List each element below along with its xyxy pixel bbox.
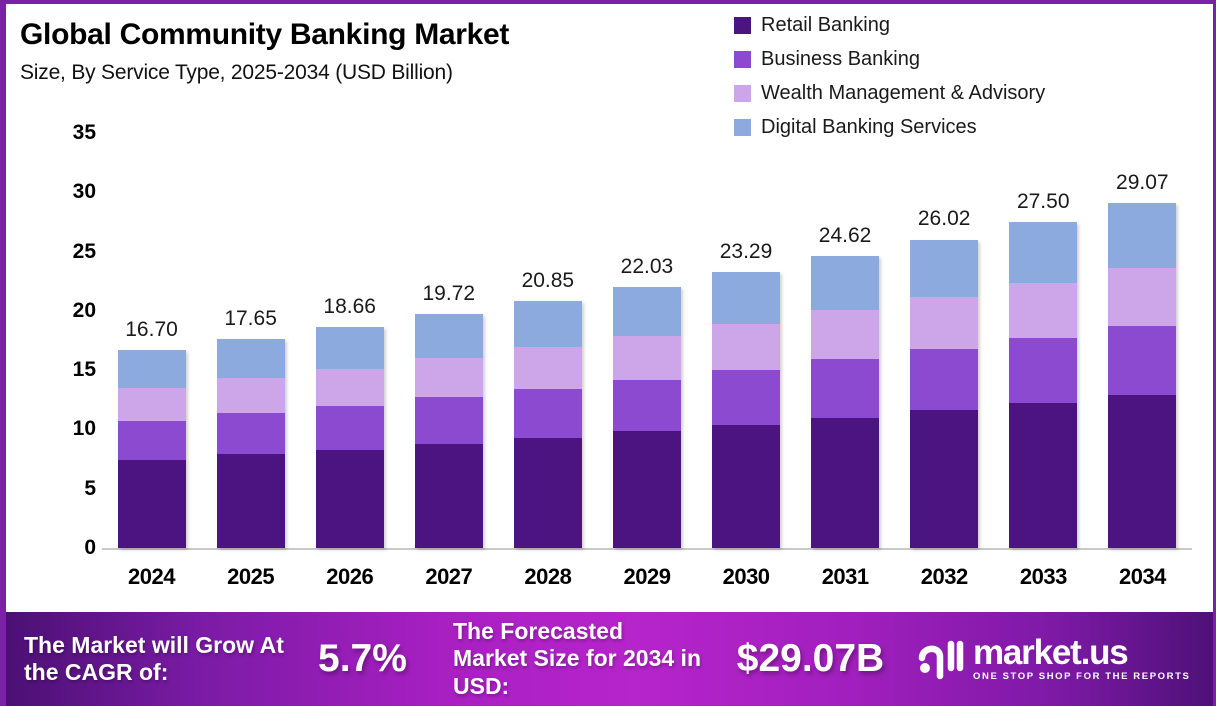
- bar-total-label: 18.66: [323, 295, 376, 319]
- bar-group[interactable]: 22.03: [597, 108, 696, 548]
- bar-segment[interactable]: [712, 370, 780, 425]
- bar-group[interactable]: 29.07: [1093, 108, 1192, 548]
- bar-segment[interactable]: [613, 431, 681, 548]
- stacked-bar[interactable]: [217, 339, 285, 548]
- stacked-bar[interactable]: [415, 314, 483, 548]
- bar-segment[interactable]: [1009, 222, 1077, 283]
- bar-group[interactable]: 26.02: [895, 108, 994, 548]
- y-axis-tick-label: 25: [30, 240, 96, 264]
- forecast-size-value: $29.07B: [703, 636, 918, 682]
- bar-segment[interactable]: [1108, 395, 1176, 548]
- stacked-bar[interactable]: [118, 350, 186, 548]
- y-axis: 05101520253035: [18, 4, 96, 610]
- bar-segment[interactable]: [415, 397, 483, 444]
- bar-total-label: 16.70: [125, 318, 178, 342]
- bar-segment[interactable]: [118, 350, 186, 388]
- bar-segment[interactable]: [910, 349, 978, 410]
- y-axis-tick-label: 20: [30, 299, 96, 323]
- y-axis-tick-label: 10: [30, 417, 96, 441]
- bar-segment[interactable]: [514, 301, 582, 347]
- x-axis-tick-label: 2027: [394, 564, 504, 590]
- x-axis-tick-label: 2033: [988, 564, 1098, 590]
- bar-segment[interactable]: [811, 418, 879, 548]
- x-axis-baseline: [102, 548, 1192, 550]
- bar-segment[interactable]: [514, 389, 582, 438]
- stacked-bar[interactable]: [811, 256, 879, 548]
- bar-group[interactable]: 27.50: [994, 108, 1093, 548]
- stacked-bar[interactable]: [613, 287, 681, 548]
- x-axis-tick-label: 2025: [196, 564, 306, 590]
- x-axis-tick-label: 2031: [790, 564, 900, 590]
- bar-total-label: 29.07: [1116, 171, 1169, 195]
- bar-segment[interactable]: [1108, 268, 1176, 326]
- bar-total-label: 24.62: [819, 224, 872, 248]
- bar-segment[interactable]: [316, 327, 384, 369]
- bar-segment[interactable]: [415, 358, 483, 397]
- bar-total-label: 17.65: [224, 307, 277, 331]
- bar-segment[interactable]: [1009, 403, 1077, 548]
- bar-segment[interactable]: [613, 287, 681, 336]
- bar-segment[interactable]: [613, 336, 681, 380]
- bar-segment[interactable]: [316, 450, 384, 548]
- brand-text: market.us ONE STOP SHOP FOR THE REPORTS: [973, 636, 1190, 682]
- bar-segment[interactable]: [613, 380, 681, 432]
- stacked-bar[interactable]: [1108, 203, 1176, 548]
- bar-group[interactable]: 20.85: [498, 108, 597, 548]
- y-axis-tick-label: 35: [30, 121, 96, 145]
- bar-total-label: 23.29: [720, 240, 773, 264]
- bar-total-label: 20.85: [522, 269, 575, 293]
- bar-segment[interactable]: [910, 410, 978, 548]
- y-axis-tick-label: 0: [30, 536, 96, 560]
- footer-banner: The Market will Grow At the CAGR of: 5.7…: [6, 612, 1213, 706]
- bar-segment[interactable]: [217, 413, 285, 454]
- chart-plot-area: 05101520253035 16.7017.6518.6619.7220.85…: [6, 4, 1216, 610]
- y-axis-tick-label: 15: [30, 358, 96, 382]
- bar-segment[interactable]: [118, 388, 186, 421]
- brand-tagline: ONE STOP SHOP FOR THE REPORTS: [973, 671, 1190, 682]
- bar-total-label: 22.03: [621, 255, 674, 279]
- x-axis-tick-label: 2026: [295, 564, 405, 590]
- bar-segment[interactable]: [316, 369, 384, 406]
- stacked-bar[interactable]: [514, 301, 582, 548]
- bar-segment[interactable]: [1108, 326, 1176, 395]
- bar-segment[interactable]: [712, 272, 780, 324]
- x-axis-tick-label: 2030: [691, 564, 801, 590]
- x-axis-tick-label: 2029: [592, 564, 702, 590]
- forecast-size-label: The Forecasted Market Size for 2034 in U…: [453, 618, 703, 699]
- bar-group[interactable]: 24.62: [796, 108, 895, 548]
- bar-segment[interactable]: [217, 339, 285, 379]
- bar-group[interactable]: 17.65: [201, 108, 300, 548]
- x-axis-tick-label: 2024: [97, 564, 207, 590]
- stacked-bar[interactable]: [910, 240, 978, 548]
- x-axis-tick-label: 2034: [1087, 564, 1197, 590]
- bar-segment[interactable]: [1108, 203, 1176, 268]
- y-axis-tick-label: 5: [30, 477, 96, 501]
- bar-segment[interactable]: [712, 425, 780, 548]
- bar-segment[interactable]: [811, 359, 879, 417]
- cagr-value: 5.7%: [318, 636, 453, 682]
- bar-segment[interactable]: [811, 310, 879, 359]
- bar-series-container: 16.7017.6518.6619.7220.8522.0323.2924.62…: [102, 108, 1192, 548]
- stacked-bar[interactable]: [1009, 222, 1077, 548]
- bar-group[interactable]: 19.72: [399, 108, 498, 548]
- bar-group[interactable]: 23.29: [697, 108, 796, 548]
- bar-segment[interactable]: [910, 297, 978, 349]
- brand-name: market.us: [973, 636, 1190, 669]
- bar-total-label: 27.50: [1017, 190, 1070, 214]
- stacked-bar[interactable]: [316, 327, 384, 548]
- bar-segment[interactable]: [217, 454, 285, 548]
- bar-segment[interactable]: [514, 347, 582, 389]
- bar-segment[interactable]: [415, 314, 483, 358]
- bar-segment[interactable]: [514, 438, 582, 548]
- bar-segment[interactable]: [811, 256, 879, 310]
- bar-group[interactable]: 16.70: [102, 108, 201, 548]
- brand-logo[interactable]: market.us ONE STOP SHOP FOR THE REPORTS: [918, 636, 1190, 682]
- infographic-root: Global Community Banking Market Size, By…: [0, 0, 1216, 706]
- bar-total-label: 26.02: [918, 207, 971, 231]
- y-axis-tick-label: 30: [30, 180, 96, 204]
- bar-group[interactable]: 18.66: [300, 108, 399, 548]
- bar-segment[interactable]: [1009, 283, 1077, 338]
- bar-segment[interactable]: [118, 460, 186, 548]
- cagr-label: The Market will Grow At the CAGR of:: [24, 632, 314, 686]
- x-axis-tick-label: 2032: [889, 564, 999, 590]
- bar-segment[interactable]: [118, 421, 186, 460]
- x-axis-tick-label: 2028: [493, 564, 603, 590]
- bar-segment[interactable]: [910, 240, 978, 298]
- bar-segment[interactable]: [217, 378, 285, 413]
- bar-total-label: 19.72: [422, 282, 475, 306]
- bar-segment[interactable]: [1009, 338, 1077, 403]
- bar-segment[interactable]: [712, 324, 780, 370]
- bar-segment[interactable]: [316, 406, 384, 450]
- stacked-bar[interactable]: [712, 272, 780, 548]
- market-us-logo-icon: [918, 638, 964, 680]
- bar-segment[interactable]: [415, 444, 483, 548]
